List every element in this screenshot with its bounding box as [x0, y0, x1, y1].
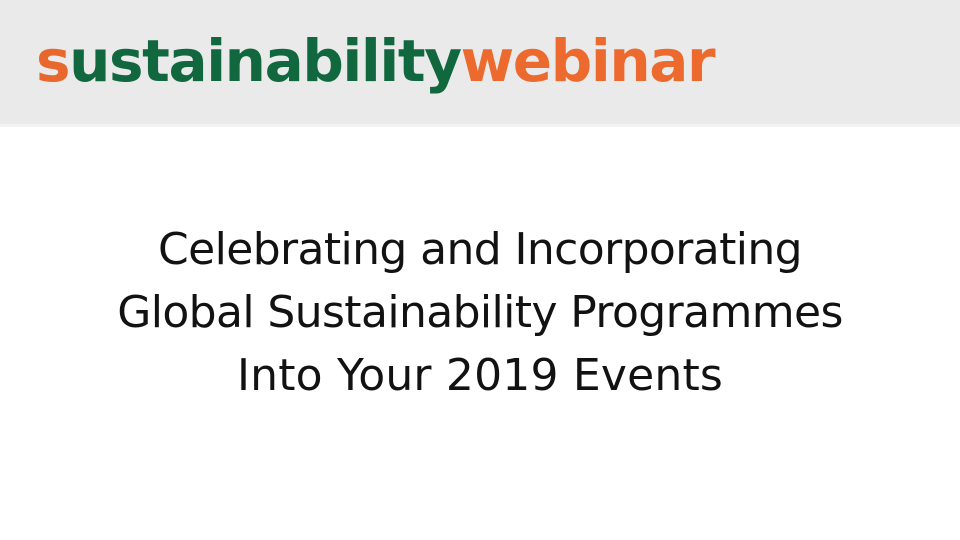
sustainability-webinar-logo: sustainabilitywebinar [36, 30, 714, 92]
title-line-1: Celebrating and Incorporating [0, 218, 960, 281]
slide-title: Celebrating and Incorporating Global Sus… [0, 218, 960, 407]
header-band: sustainabilitywebinar [0, 0, 960, 124]
title-line-2: Global Sustainability Programmes [0, 281, 960, 344]
logo-lead-letter: s [36, 27, 69, 95]
logo-word-webinar: webinar [461, 27, 715, 95]
logo-word-sustainability: ustainability [69, 27, 460, 95]
title-line-3: Into Your 2019 Events [0, 344, 960, 407]
header-band-edge [0, 124, 960, 127]
